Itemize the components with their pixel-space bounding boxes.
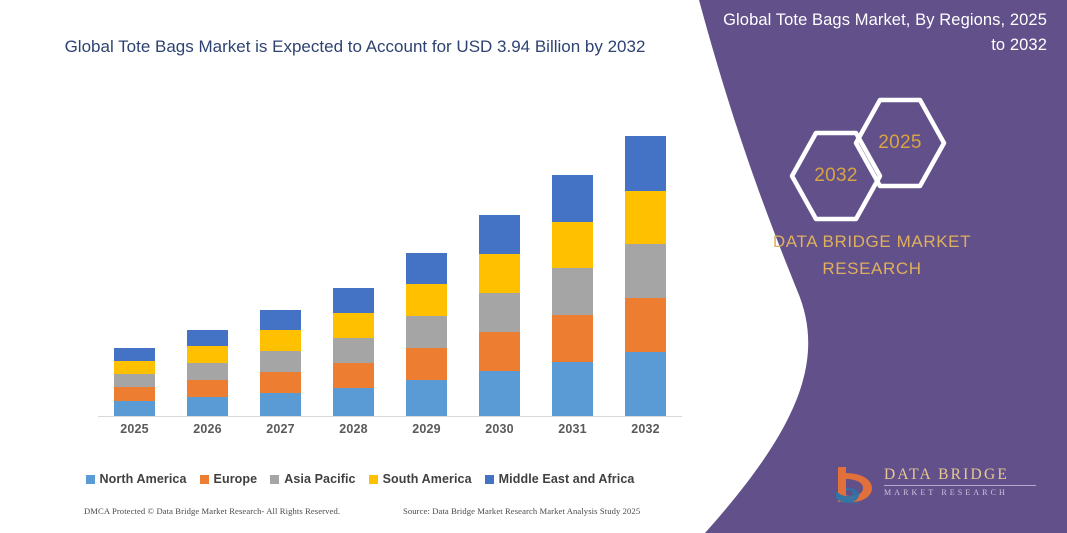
x-axis-label: 2025 <box>100 422 170 436</box>
bar-column <box>392 120 462 416</box>
bar-segment <box>114 348 155 361</box>
x-axis-labels: 20252026202720282029203020312032 <box>98 422 682 436</box>
bar-segment <box>187 397 228 416</box>
logo-divider <box>884 485 1036 486</box>
x-axis-label: 2030 <box>465 422 535 436</box>
legend-item[interactable]: Middle East and Africa <box>485 472 635 486</box>
stacked-bar-2031 <box>552 175 593 416</box>
footer: DMCA Protected © Data Bridge Market Rese… <box>0 506 700 526</box>
bar-column <box>465 120 535 416</box>
brand-name: DATA BRIDGE MARKET RESEARCH <box>697 228 1047 282</box>
stacked-bar-2030 <box>479 215 520 416</box>
chart-legend: North AmericaEuropeAsia PacificSouth Ame… <box>40 472 680 486</box>
right-panel: Global Tote Bags Market, By Regions, 202… <box>677 0 1067 533</box>
bar-segment <box>260 372 301 393</box>
bar-segment <box>260 393 301 416</box>
logo-text-bottom: MARKET RESEARCH <box>884 488 1044 498</box>
stacked-bar-2027 <box>260 310 301 416</box>
legend-swatch <box>369 475 378 484</box>
legend-item[interactable]: Europe <box>200 472 258 486</box>
bar-segment <box>552 268 593 315</box>
bar-segment <box>406 380 447 416</box>
infographic-root: Global Tote Bags Market is Expected to A… <box>0 0 1067 533</box>
bar-segment <box>114 374 155 387</box>
legend-item[interactable]: North America <box>86 472 187 486</box>
x-axis-label: 2029 <box>392 422 462 436</box>
legend-swatch <box>270 475 279 484</box>
x-axis-label: 2031 <box>538 422 608 436</box>
bar-segment <box>187 346 228 363</box>
bar-segment <box>552 315 593 362</box>
bar-segment <box>552 362 593 416</box>
panel-content: Global Tote Bags Market, By Regions, 202… <box>677 0 1067 533</box>
hexagon-group: 2032 2025 <box>772 95 962 200</box>
bar-segment <box>552 175 593 222</box>
dbmr-logo-wordmark: DATA BRIDGE MARKET RESEARCH <box>884 466 1044 498</box>
bar-segment <box>406 316 447 348</box>
bar-column <box>246 120 316 416</box>
x-axis-label: 2027 <box>246 422 316 436</box>
chart-plot <box>98 120 682 417</box>
bar-column <box>100 120 170 416</box>
bar-segment <box>479 254 520 293</box>
brand-line-2: RESEARCH <box>697 255 1047 282</box>
legend-item[interactable]: South America <box>369 472 472 486</box>
bar-segment <box>625 136 666 191</box>
x-axis-label: 2028 <box>319 422 389 436</box>
bar-column <box>538 120 608 416</box>
bar-segment <box>114 387 155 401</box>
hexagon-2025-label: 2025 <box>850 95 950 191</box>
x-axis-line <box>98 416 682 417</box>
bridge-b-icon <box>832 464 876 506</box>
bar-segment <box>333 338 374 363</box>
chart-title: Global Tote Bags Market is Expected to A… <box>60 33 650 61</box>
bar-segment <box>187 380 228 397</box>
stacked-bar-2029 <box>406 253 447 416</box>
bar-segment <box>406 284 447 316</box>
bar-segment <box>625 191 666 244</box>
legend-swatch <box>485 475 494 484</box>
bar-segment <box>333 313 374 338</box>
footer-copyright: DMCA Protected © Data Bridge Market Rese… <box>84 506 340 516</box>
x-axis-label: 2026 <box>173 422 243 436</box>
bar-column <box>319 120 389 416</box>
bar-segment <box>625 244 666 298</box>
legend-label: Middle East and Africa <box>499 472 635 486</box>
bar-segment <box>625 352 666 416</box>
legend-swatch <box>200 475 209 484</box>
x-axis-label: 2032 <box>611 422 681 436</box>
bar-segment <box>260 330 301 351</box>
bar-segment <box>625 298 666 352</box>
bar-segment <box>333 388 374 416</box>
legend-label: Asia Pacific <box>284 472 355 486</box>
bar-group <box>98 120 682 416</box>
legend-swatch <box>86 475 95 484</box>
bar-segment <box>479 332 520 371</box>
brand-line-1: DATA BRIDGE MARKET <box>697 228 1047 255</box>
bar-segment <box>187 330 228 346</box>
logo-text-top: DATA BRIDGE <box>884 466 1044 483</box>
bar-segment <box>114 401 155 416</box>
bar-segment <box>479 293 520 332</box>
legend-label: Europe <box>214 472 258 486</box>
bar-column <box>611 120 681 416</box>
bar-column <box>173 120 243 416</box>
legend-label: South America <box>383 472 472 486</box>
bar-segment <box>479 371 520 416</box>
dbmr-logo: DATA BRIDGE MARKET RESEARCH <box>832 462 1047 508</box>
stacked-bar-2028 <box>333 288 374 416</box>
bar-segment <box>479 215 520 254</box>
bar-segment <box>260 351 301 372</box>
legend-label: North America <box>100 472 187 486</box>
bar-segment <box>187 363 228 380</box>
dbmr-logo-mark <box>832 464 876 506</box>
stacked-bar-2026 <box>187 330 228 416</box>
bar-segment <box>406 348 447 380</box>
bar-segment <box>333 363 374 388</box>
chart-area: Global Tote Bags Market is Expected to A… <box>0 0 700 533</box>
panel-title: Global Tote Bags Market, By Regions, 202… <box>717 8 1047 58</box>
hexagon-2025: 2025 <box>850 95 950 191</box>
bar-segment <box>333 288 374 313</box>
bar-segment <box>260 310 301 330</box>
footer-source: Source: Data Bridge Market Research Mark… <box>403 506 640 516</box>
stacked-bar-2025 <box>114 348 155 416</box>
bar-segment <box>406 253 447 284</box>
legend-item[interactable]: Asia Pacific <box>270 472 355 486</box>
stacked-bar-2032 <box>625 136 666 416</box>
bar-segment <box>552 222 593 268</box>
bar-segment <box>114 361 155 374</box>
